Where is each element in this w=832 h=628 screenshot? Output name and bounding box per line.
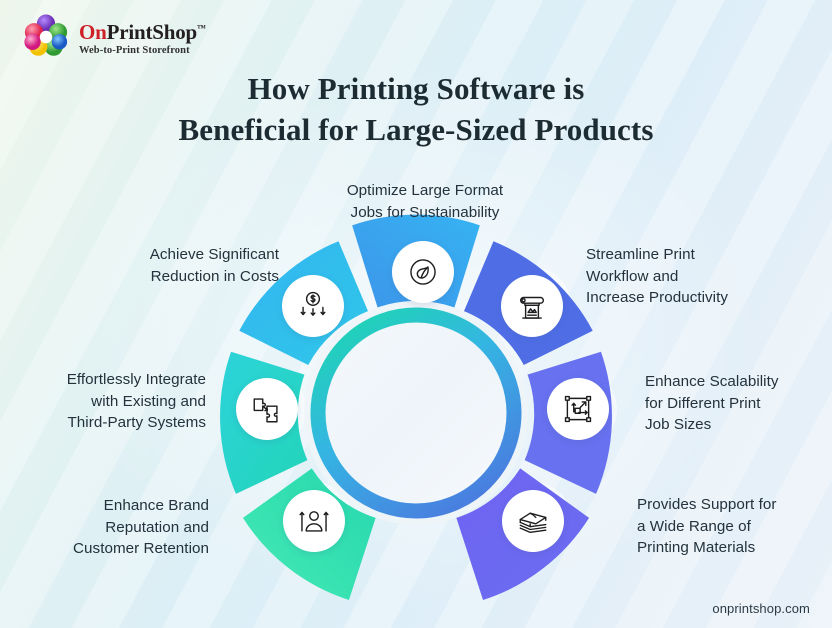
leaf-icon — [406, 255, 440, 289]
page-title-line-2: Beneficial for Large-Sized Products — [0, 109, 832, 150]
label-workflow: Streamline Print Workflow and Increase P… — [586, 244, 832, 309]
brand-name-prefix: On — [79, 20, 107, 44]
label-brand-reputation: Enhance Brand Reputation and Customer Re… — [0, 495, 209, 560]
icon-node-scalability[interactable] — [547, 378, 609, 440]
large-format-printer-icon — [515, 289, 549, 323]
icon-node-brand-reputation[interactable] — [283, 490, 345, 552]
icon-node-cost-reduction[interactable] — [282, 275, 344, 337]
center-donut — [304, 301, 528, 525]
brand-logo[interactable]: OnPrintShop™ Web-to-Print Storefront — [22, 14, 206, 62]
icon-node-materials[interactable] — [502, 490, 564, 552]
page-title: How Printing Software is Beneficial for … — [0, 68, 832, 150]
label-materials: Provides Support for a Wide Range of Pri… — [637, 494, 832, 559]
label-sustainability: Optimize Large Format Jobs for Sustainab… — [270, 180, 580, 223]
icon-node-sustainability[interactable] — [392, 241, 454, 303]
label-cost-reduction: Achieve Significant Reduction in Costs — [20, 244, 279, 287]
cost-reduction-icon — [296, 289, 330, 323]
brand-tagline: Web-to-Print Storefront — [79, 46, 206, 57]
label-scalability: Enhance Scalability for Different Print … — [645, 371, 832, 436]
material-stack-icon — [516, 504, 550, 538]
brand-name-suffix: PrintShop — [107, 20, 197, 44]
trademark-symbol: ™ — [197, 23, 206, 33]
page-title-line-1: How Printing Software is — [0, 68, 832, 109]
puzzle-integration-icon — [250, 392, 284, 426]
flower-petals-logo-icon — [22, 14, 70, 62]
icon-node-workflow[interactable] — [501, 275, 563, 337]
icon-node-integration[interactable] — [236, 378, 298, 440]
label-integration: Effortlessly Integrate with Existing and… — [0, 369, 206, 434]
website-url[interactable]: onprintshop.com — [712, 601, 810, 616]
person-growth-icon — [297, 504, 331, 538]
brand-name: OnPrintShop™ — [79, 22, 206, 43]
resize-scale-icon — [561, 392, 595, 426]
brand-wordmark: OnPrintShop™ Web-to-Print Storefront — [79, 20, 206, 57]
